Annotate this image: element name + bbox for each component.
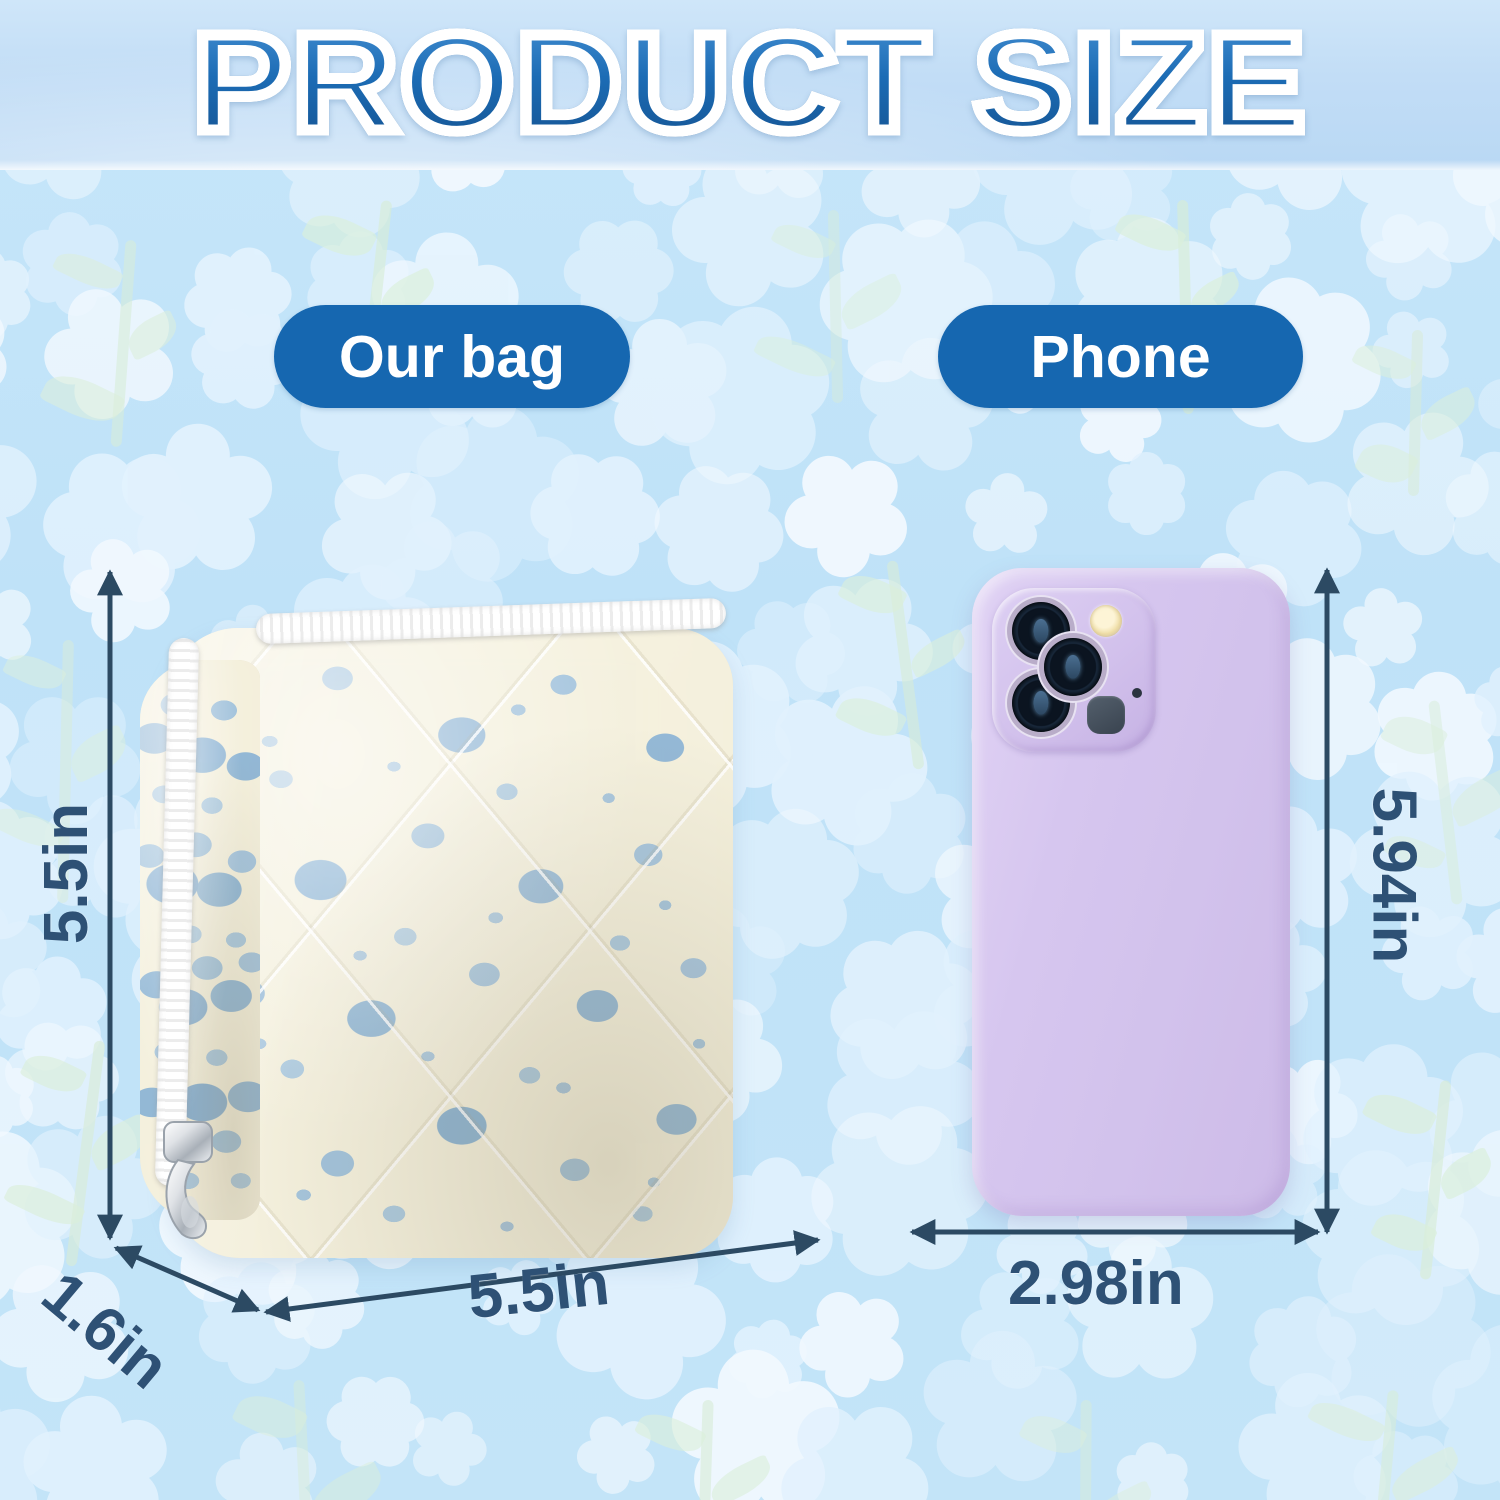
flower-icon — [1099, 446, 1194, 541]
smartphone-icon — [972, 568, 1290, 1216]
zipper-pull-icon — [148, 1116, 226, 1244]
header-banner: PRODUCT SIZE — [0, 0, 1500, 170]
phone-height-label: 5.94in — [1358, 788, 1429, 964]
microphone-dot-icon — [1132, 688, 1142, 698]
page-title: PRODUCT SIZE — [0, 8, 1500, 158]
stem-icon — [1079, 1400, 1091, 1500]
phone-label: Phone — [1030, 323, 1210, 391]
flower-icon — [1106, 1436, 1197, 1500]
phone-width-label: 2.98in — [1008, 1248, 1184, 1319]
camera-flash-icon — [1090, 605, 1122, 637]
cosmetic-bag-icon — [140, 600, 750, 1265]
flower-icon — [1, 1373, 193, 1500]
bag-width-label: 5.5in — [465, 1248, 613, 1333]
camera-lens-telephoto-icon — [1044, 638, 1102, 696]
bag-height-label: 5.5in — [31, 803, 102, 944]
product-size-infographic: PRODUCT SIZE Our bag Phone — [0, 0, 1500, 1500]
label-badge-phone: Phone — [938, 305, 1303, 408]
label-badge-our-bag: Our bag — [274, 305, 630, 408]
camera-module — [992, 588, 1156, 752]
lidar-sensor-icon — [1087, 696, 1125, 734]
our-bag-label: Our bag — [339, 323, 565, 391]
flower-icon — [955, 465, 1056, 566]
